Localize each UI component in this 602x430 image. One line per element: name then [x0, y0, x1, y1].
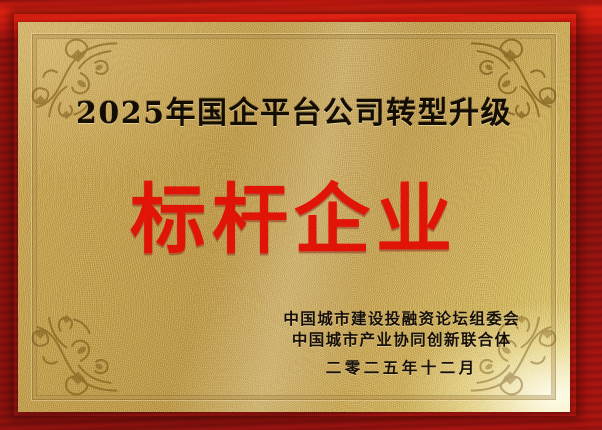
award-plaque-image: 2025年国企平台公司转型升级 标杆企业 中国城市建设投融资论坛组委会 中国城市… — [0, 0, 602, 430]
issuer-line-1: 中国城市建设投融资论坛组委会 — [283, 308, 520, 329]
issuer-line-2: 中国城市产业协同创新联合体 — [283, 329, 520, 350]
gold-plate: 2025年国企平台公司转型升级 标杆企业 中国城市建设投融资论坛组委会 中国城市… — [18, 22, 570, 412]
award-headline: 标杆企业 — [18, 182, 570, 258]
plaque-text-content: 2025年国企平台公司转型升级 标杆企业 中国城市建设投融资论坛组委会 中国城市… — [18, 22, 570, 412]
award-title: 2025年国企平台公司转型升级 — [18, 98, 570, 130]
issue-date: 二零二五年十二月 — [283, 357, 520, 378]
issuer-block: 中国城市建设投融资论坛组委会 中国城市产业协同创新联合体 二零二五年十二月 — [283, 308, 520, 378]
